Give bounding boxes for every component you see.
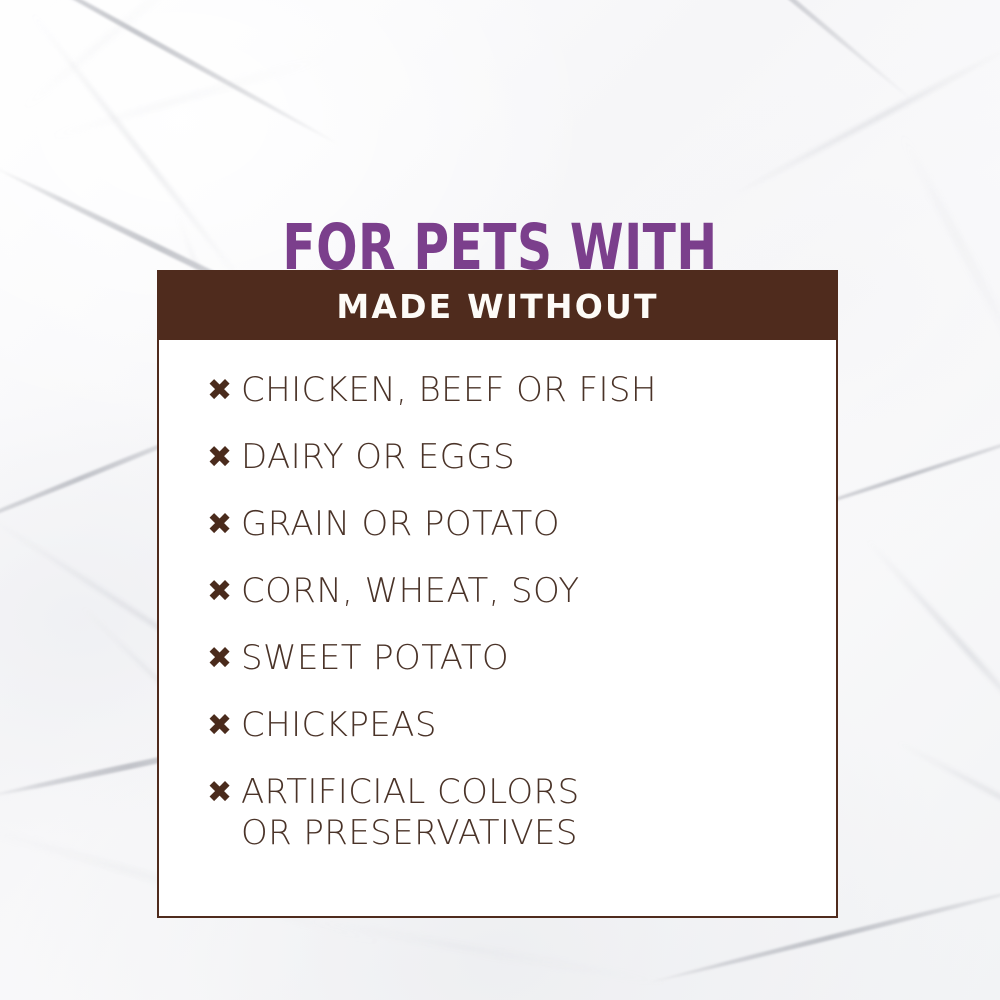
marble-poster: FOR PETS WITH FOOD SENSITIVITIES MADE WI… bbox=[0, 0, 1000, 1000]
cross-mark-icon: ✖ bbox=[207, 705, 241, 746]
list-item: ✖ DAIRY OR EGGS bbox=[207, 437, 836, 478]
list-item: ✖ CHICKPEAS bbox=[207, 705, 836, 746]
list-item: ✖ ARTIFICIAL COLORS OR PRESERVATIVES bbox=[207, 772, 836, 854]
list-item-label: CHICKPEAS bbox=[241, 705, 437, 746]
list-item-label: SWEET POTATO bbox=[241, 638, 509, 679]
excluded-ingredients-list: ✖ CHICKEN, BEEF OR FISH ✖ DAIRY OR EGGS … bbox=[159, 340, 836, 916]
list-item-label: ARTIFICIAL COLORS OR PRESERVATIVES bbox=[241, 772, 580, 854]
cross-mark-icon: ✖ bbox=[207, 437, 241, 478]
cross-mark-icon: ✖ bbox=[207, 571, 241, 612]
marble-vein bbox=[894, 739, 1000, 865]
card-header-title: MADE WITHOUT bbox=[336, 287, 658, 326]
list-item-label: CHICKEN, BEEF OR FISH bbox=[241, 370, 657, 411]
cross-mark-icon: ✖ bbox=[207, 504, 241, 545]
cross-mark-icon: ✖ bbox=[207, 638, 241, 679]
list-item: ✖ CORN, WHEAT, SOY bbox=[207, 571, 836, 612]
made-without-card: MADE WITHOUT ✖ CHICKEN, BEEF OR FISH ✖ D… bbox=[157, 270, 838, 918]
cross-mark-icon: ✖ bbox=[207, 772, 241, 813]
list-item: ✖ CHICKEN, BEEF OR FISH bbox=[207, 370, 836, 411]
card-header-bar: MADE WITHOUT bbox=[159, 272, 836, 340]
list-item: ✖ GRAIN OR POTATO bbox=[207, 504, 836, 545]
cross-mark-icon: ✖ bbox=[207, 370, 241, 411]
marble-vein bbox=[303, 917, 678, 987]
list-item-label: CORN, WHEAT, SOY bbox=[241, 571, 580, 612]
list-item-label: GRAIN OR POTATO bbox=[241, 504, 560, 545]
list-item-label: DAIRY OR EGGS bbox=[241, 437, 515, 478]
list-item: ✖ SWEET POTATO bbox=[207, 638, 836, 679]
